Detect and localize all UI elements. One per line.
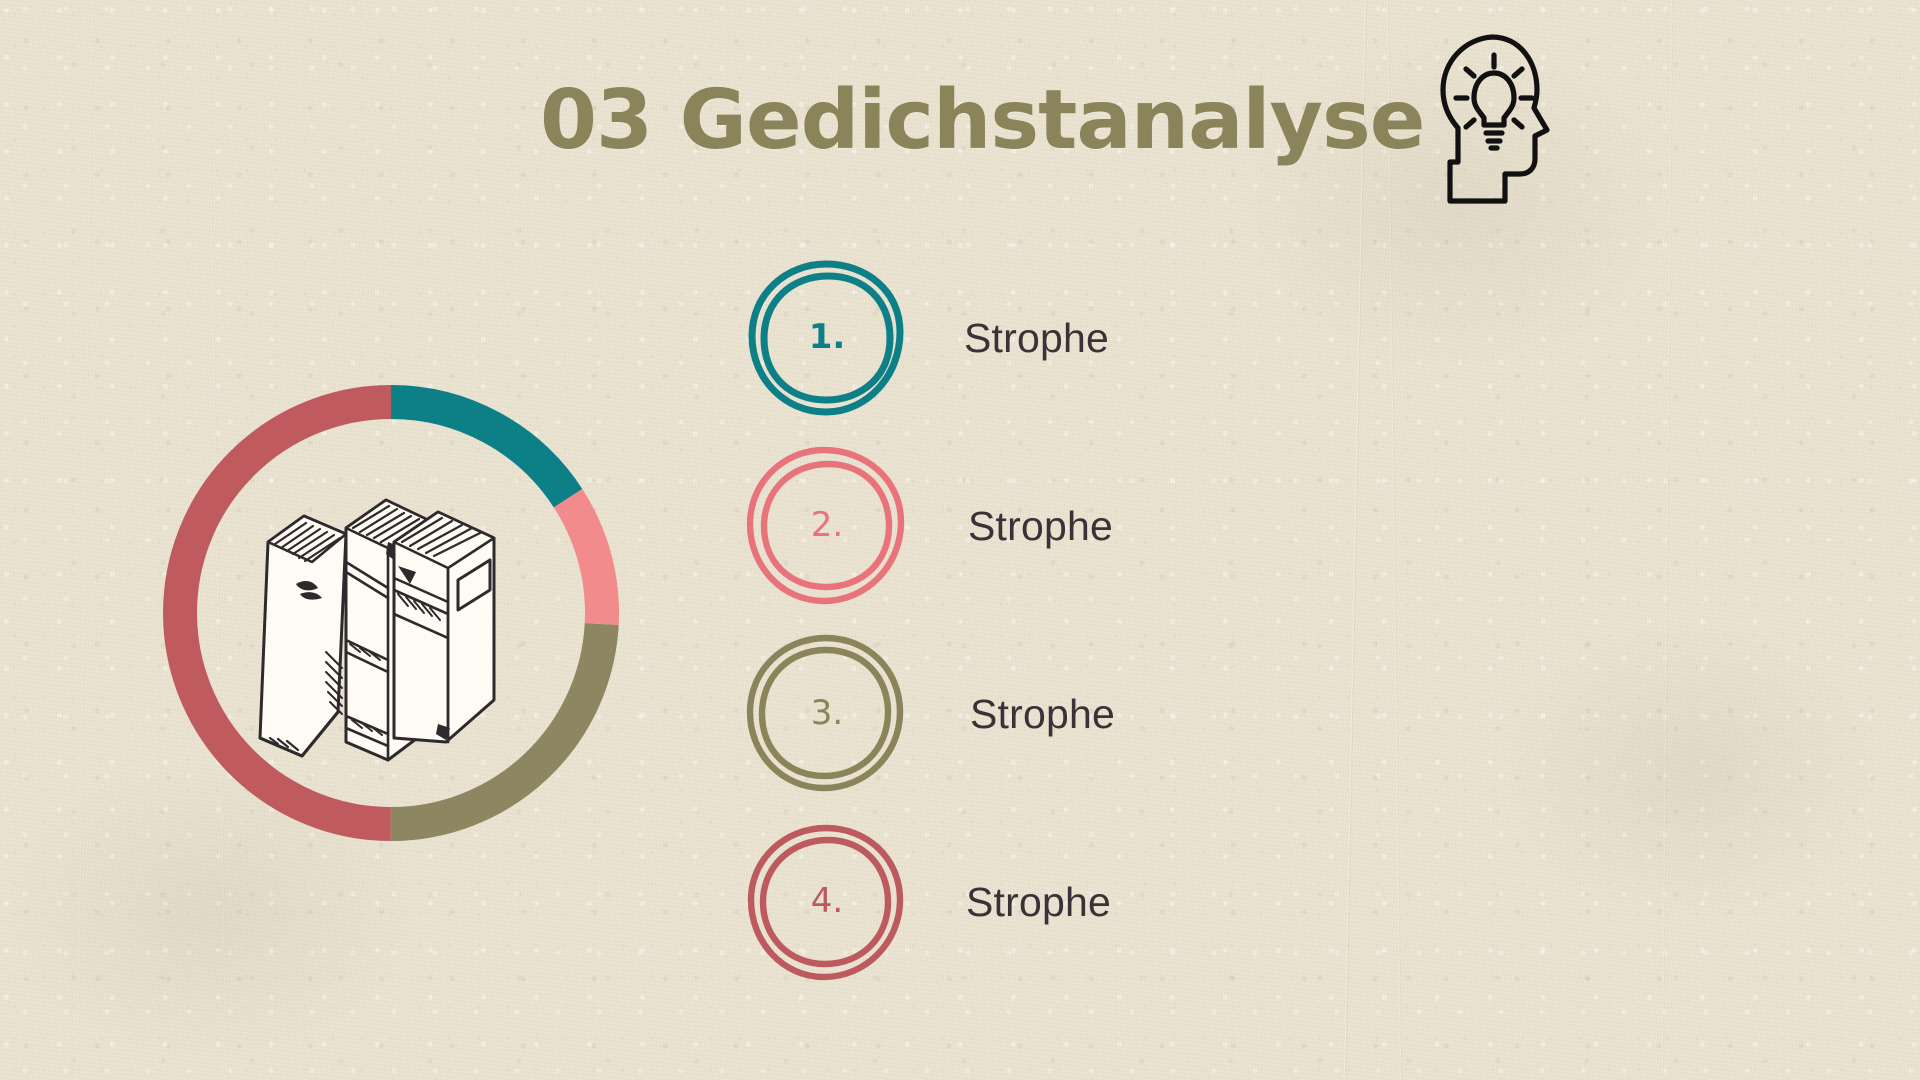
step-label: Strophe [964,315,1109,362]
list-item[interactable]: 3. Strophe [740,624,1440,804]
step-badge-3[interactable]: 3. [740,628,912,800]
slide-canvas: 03 Gedichstanalyse [0,0,1920,1080]
step-number: 3. [740,628,912,800]
stacked-books-icon [242,438,542,788]
step-label: Strophe [966,879,1111,926]
step-label: Strophe [968,503,1113,550]
books-donut-illustration [146,368,636,858]
paper-smudge [1500,620,1880,920]
step-badge-1[interactable]: 1. [740,252,912,424]
paper-fold-line [1661,0,1674,1080]
list-item[interactable]: 4. Strophe [740,812,1440,992]
list-item[interactable]: 2. Strophe [740,436,1440,616]
step-label: Strophe [970,691,1115,738]
step-number: 1. [740,252,912,424]
stanza-step-list: 1. Strophe 2. Strophe [740,240,1440,980]
head-lightbulb-icon [1430,24,1580,214]
paper-fold-line [76,0,95,1080]
step-number: 2. [740,440,912,612]
slide-title-row: 03 Gedichstanalyse [540,80,1580,214]
step-badge-2[interactable]: 2. [740,440,912,612]
page-title: 03 Gedichstanalyse [540,80,1424,162]
list-item[interactable]: 1. Strophe [740,248,1440,428]
step-badge-4[interactable]: 4. [740,816,912,988]
step-number: 4. [740,816,912,988]
